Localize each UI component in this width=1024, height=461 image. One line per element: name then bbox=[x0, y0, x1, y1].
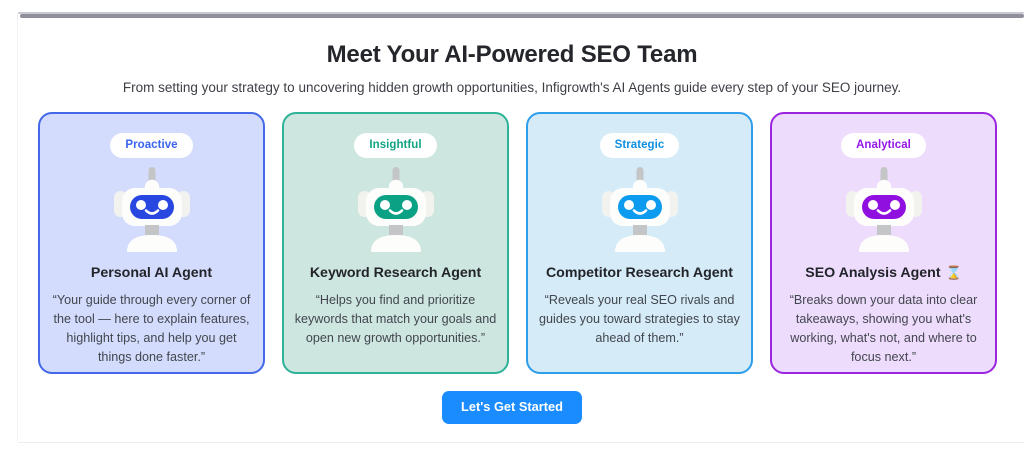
agent-card[interactable]: Insightful Keyword Research Agent“Helps … bbox=[282, 112, 509, 374]
robot-avatar-icon bbox=[341, 164, 451, 256]
agent-card-description: “Breaks down your data into clear takeaw… bbox=[782, 291, 985, 367]
agent-card-title-text: Keyword Research Agent bbox=[310, 264, 481, 282]
agent-card-title-text: SEO Analysis Agent bbox=[805, 264, 940, 282]
robot-avatar-icon bbox=[97, 164, 207, 256]
robot-avatar-icon bbox=[829, 164, 939, 256]
section-header: Meet Your AI-Powered SEO Team From setti… bbox=[0, 40, 1024, 97]
page-title: Meet Your AI-Powered SEO Team bbox=[0, 40, 1024, 70]
agent-card-description: “Reveals your real SEO rivals and guides… bbox=[538, 291, 741, 348]
agent-card-list: Proactive Personal AI Agent“Your guide t… bbox=[38, 112, 998, 374]
agent-badge: Analytical bbox=[841, 133, 926, 158]
agent-card-title: SEO Analysis Agent⌛ bbox=[805, 264, 962, 282]
agent-card-title: Competitor Research Agent bbox=[546, 264, 733, 282]
agent-card-title-text: Competitor Research Agent bbox=[546, 264, 733, 282]
page-top-divider bbox=[20, 14, 1024, 18]
agent-card-title: Personal AI Agent bbox=[91, 264, 212, 282]
hourglass-icon: ⌛ bbox=[946, 266, 962, 280]
lets-get-started-button[interactable]: Let's Get Started bbox=[442, 391, 582, 424]
robot-avatar-icon bbox=[585, 164, 695, 256]
agent-card-description: “Helps you find and prioritize keywords … bbox=[294, 291, 497, 348]
agent-card[interactable]: Analytical SEO Analysis Agent⌛“Breaks do… bbox=[770, 112, 997, 374]
agents-section-page: Meet Your AI-Powered SEO Team From setti… bbox=[0, 0, 1024, 461]
agent-card-description: “Your guide through every corner of the … bbox=[50, 291, 253, 367]
agent-card[interactable]: Strategic Competitor Research Agent“Reve… bbox=[526, 112, 753, 374]
cta-row: Let's Get Started bbox=[0, 391, 1024, 424]
agent-card-title: Keyword Research Agent bbox=[310, 264, 481, 282]
agent-badge: Insightful bbox=[354, 133, 436, 158]
agent-card-title-text: Personal AI Agent bbox=[91, 264, 212, 282]
agent-card[interactable]: Proactive Personal AI Agent“Your guide t… bbox=[38, 112, 265, 374]
page-bottom-divider bbox=[18, 442, 1024, 443]
agent-badge: Proactive bbox=[110, 133, 192, 158]
page-subtitle: From setting your strategy to uncovering… bbox=[0, 79, 1024, 97]
agent-badge: Strategic bbox=[600, 133, 680, 158]
